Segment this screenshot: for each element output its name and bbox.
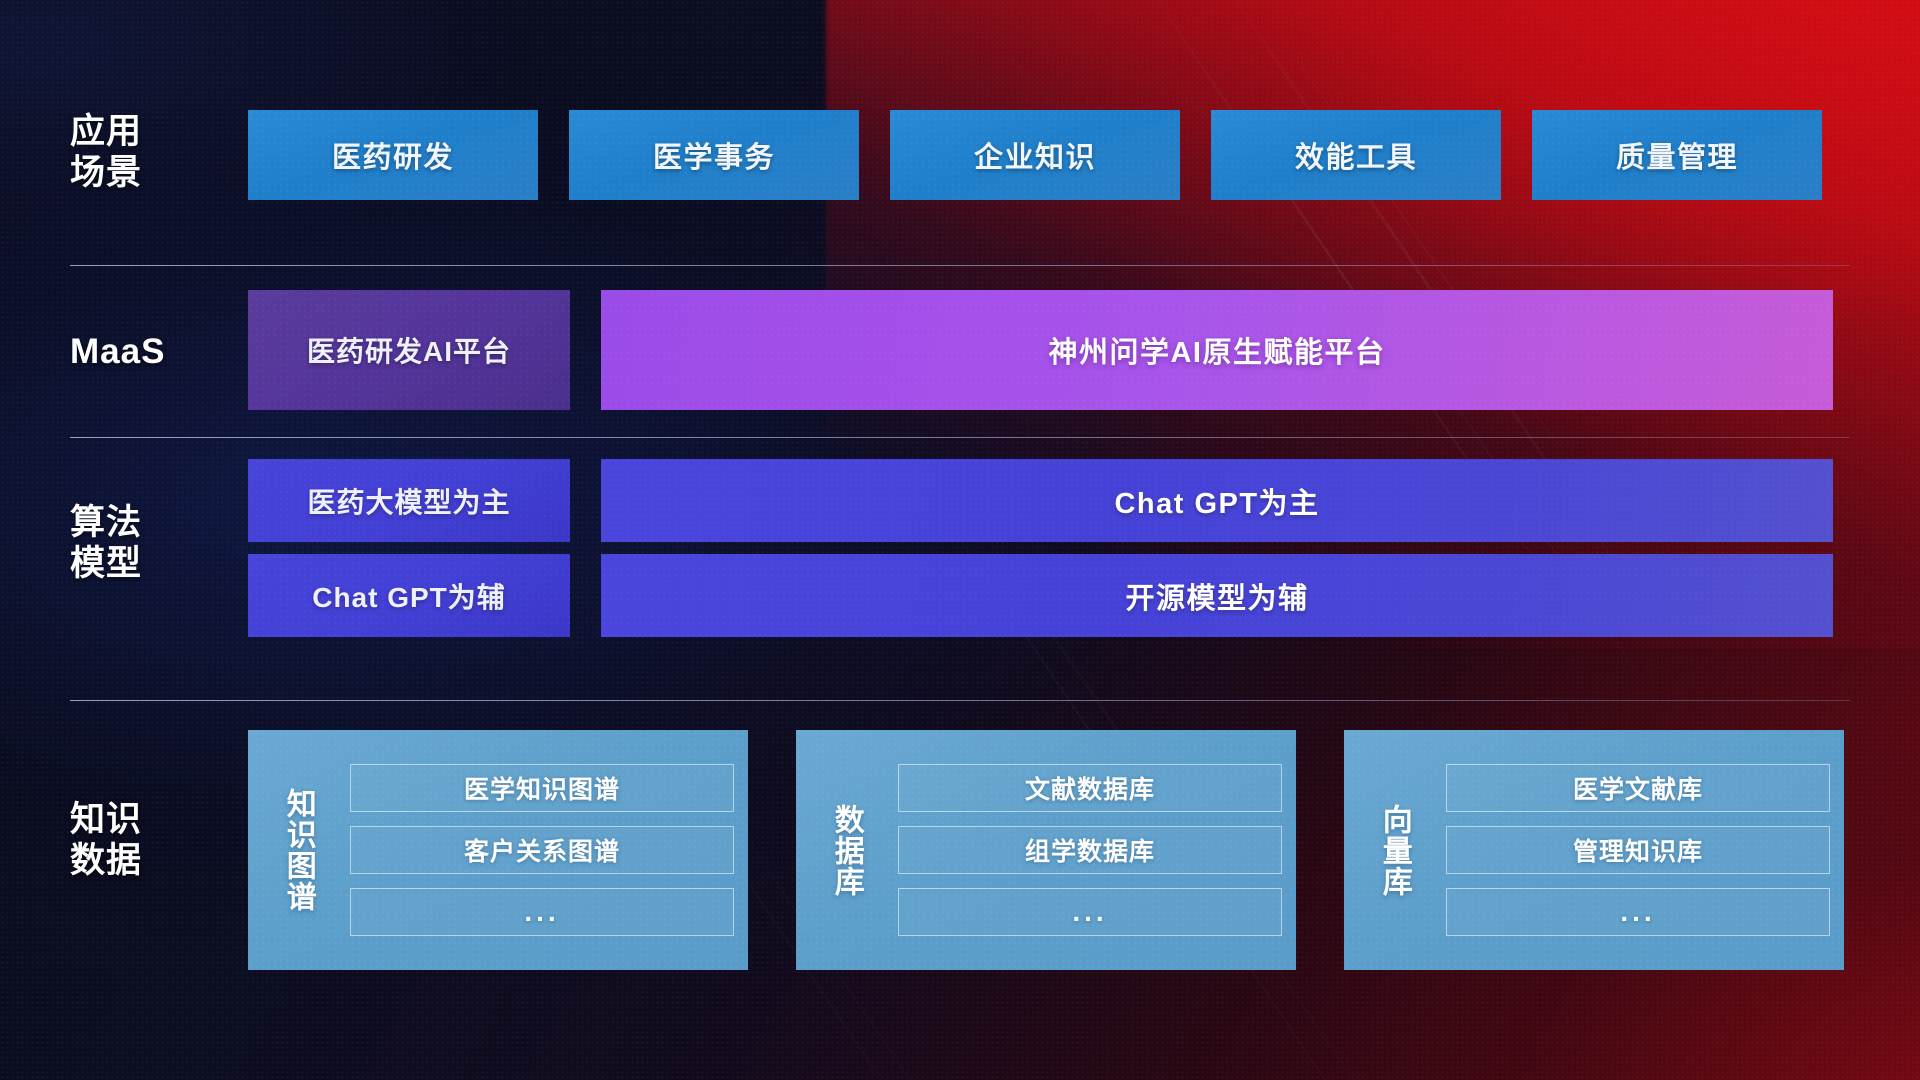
app-box-drug-rd[interactable]: 医药研发 — [248, 110, 538, 200]
knowledge-group-items: 医学知识图谱 客户关系图谱 ... — [326, 744, 734, 956]
algorithm-model-row: 医药大模型为主 Chat GPT为主 Chat GPT为辅 开源模型为辅 — [248, 459, 1833, 637]
knowledge-data-row: 知识图谱 医学知识图谱 客户关系图谱 ... 数据库 文献数据库 组学数据库 .… — [248, 730, 1844, 970]
knowledge-item-more[interactable]: ... — [898, 888, 1282, 936]
knowledge-group-items: 文献数据库 组学数据库 ... — [874, 744, 1282, 956]
knowledge-group-database: 数据库 文献数据库 组学数据库 ... — [796, 730, 1296, 970]
maas-box-drug-rd-ai-platform[interactable]: 医药研发AI平台 — [248, 290, 570, 410]
app-box-quality-management[interactable]: 质量管理 — [1532, 110, 1822, 200]
knowledge-item-management-knowledge-store[interactable]: 管理知识库 — [1446, 826, 1830, 874]
row-label-maas: MaaS — [70, 332, 220, 373]
row-label-line1: 知识 — [70, 800, 220, 841]
algorithm-line-primary: 医药大模型为主 Chat GPT为主 — [248, 459, 1833, 542]
knowledge-group-knowledge-graph: 知识图谱 医学知识图谱 客户关系图谱 ... — [248, 730, 748, 970]
row-label-line2: 场景 — [70, 153, 220, 194]
knowledge-group-title: 知识图谱 — [270, 744, 326, 956]
divider-maas-algorithm — [70, 437, 1850, 438]
divider-application-maas — [70, 265, 1850, 266]
knowledge-item-literature-database[interactable]: 文献数据库 — [898, 764, 1282, 812]
architecture-diagram: 应用 场景 医药研发 医学事务 企业知识 效能工具 质量管理 MaaS 医药研发… — [0, 0, 1920, 1080]
knowledge-group-title: 向量库 — [1366, 744, 1422, 956]
knowledge-item-medical-knowledge-graph[interactable]: 医学知识图谱 — [350, 764, 734, 812]
knowledge-group-title: 数据库 — [818, 744, 874, 956]
maas-box-shenzhou-wenxue-platform[interactable]: 神州问学AI原生赋能平台 — [601, 290, 1833, 410]
knowledge-item-more[interactable]: ... — [350, 888, 734, 936]
knowledge-item-omics-database[interactable]: 组学数据库 — [898, 826, 1282, 874]
maas-row: 医药研发AI平台 神州问学AI原生赋能平台 — [248, 290, 1833, 410]
algorithm-line-secondary: Chat GPT为辅 开源模型为辅 — [248, 554, 1833, 637]
knowledge-item-more[interactable]: ... — [1446, 888, 1830, 936]
knowledge-item-customer-relation-graph[interactable]: 客户关系图谱 — [350, 826, 734, 874]
application-scenario-row: 医药研发 医学事务 企业知识 效能工具 质量管理 — [248, 110, 1822, 200]
app-box-efficiency-tools[interactable]: 效能工具 — [1211, 110, 1501, 200]
row-label-line2: 模型 — [70, 544, 220, 585]
divider-algorithm-knowledge — [70, 700, 1850, 701]
algo-box-chatgpt-primary[interactable]: Chat GPT为主 — [601, 459, 1833, 542]
algo-box-chatgpt-secondary[interactable]: Chat GPT为辅 — [248, 554, 570, 637]
algo-box-opensource-secondary[interactable]: 开源模型为辅 — [601, 554, 1833, 637]
row-label-line1: 应用 — [70, 112, 220, 153]
app-box-medical-affairs[interactable]: 医学事务 — [569, 110, 859, 200]
row-label-algorithm: 算法 模型 — [70, 503, 220, 585]
app-box-enterprise-knowledge[interactable]: 企业知识 — [890, 110, 1180, 200]
row-label-maas-text: MaaS — [70, 332, 220, 373]
row-label-line1: 算法 — [70, 503, 220, 544]
row-label-line2: 数据 — [70, 841, 220, 882]
knowledge-group-vector-store: 向量库 医学文献库 管理知识库 ... — [1344, 730, 1844, 970]
knowledge-item-medical-literature-store[interactable]: 医学文献库 — [1446, 764, 1830, 812]
row-label-application: 应用 场景 — [70, 112, 220, 194]
row-label-knowledge: 知识 数据 — [70, 800, 220, 882]
algo-box-pharma-llm-primary[interactable]: 医药大模型为主 — [248, 459, 570, 542]
knowledge-group-items: 医学文献库 管理知识库 ... — [1422, 744, 1830, 956]
